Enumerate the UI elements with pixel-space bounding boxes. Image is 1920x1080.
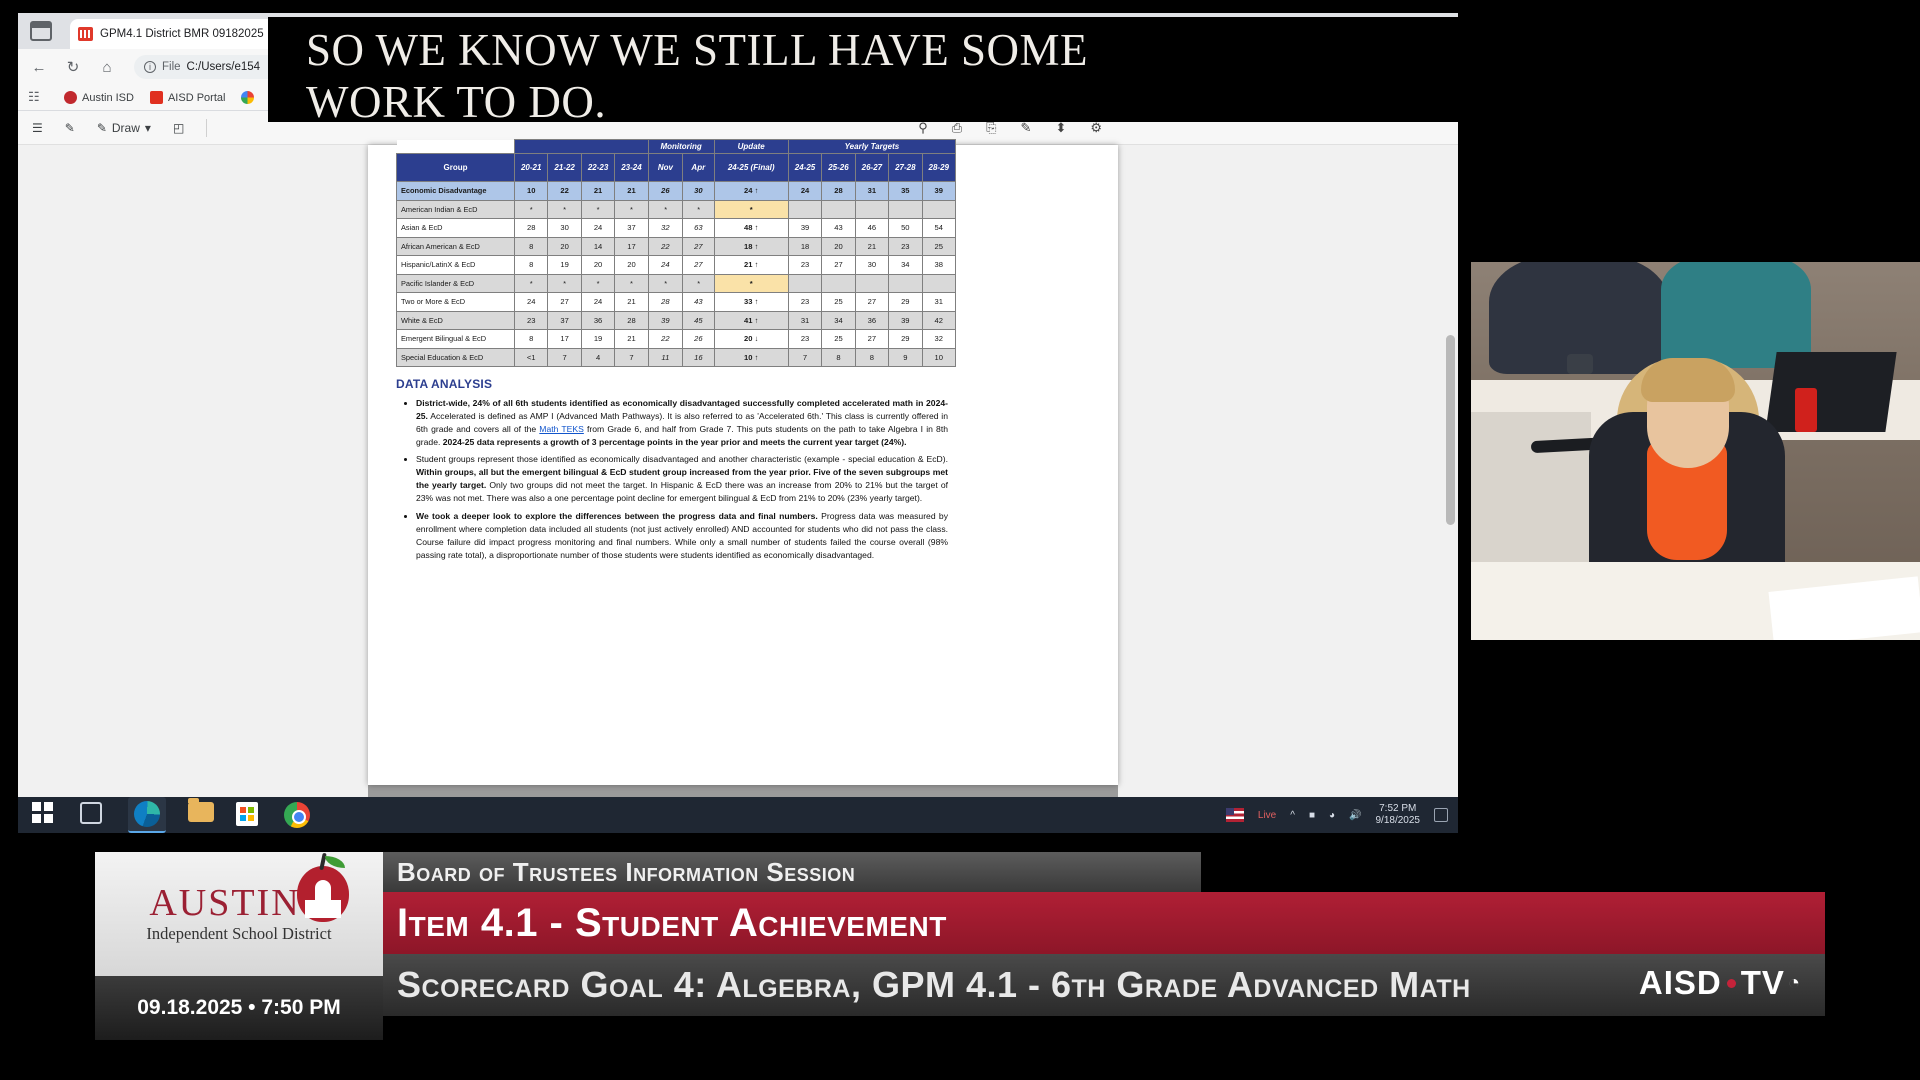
chrome-icon [284,802,310,828]
chrome-button[interactable] [284,802,310,828]
table-cell: 34 [822,311,855,330]
draw-icon: ✎ [97,121,107,135]
edge-icon [134,801,160,827]
table-cell: 9 [889,348,922,367]
col-final: 24-25 (Final) [714,154,788,182]
table-row: White & EcD23373628394541 ↑3134363942 [397,311,956,330]
table-cell [788,274,821,293]
file-explorer-button[interactable] [188,802,214,828]
cell-final-update: 18 ↑ [714,237,788,256]
table-cell: 24 [788,182,821,201]
toolbar-divider [206,119,207,137]
table-cell: 31 [922,293,955,312]
table-cell: 23 [515,311,548,330]
scorecard-subtitle: Scorecard Goal 4: Algebra, GPM 4.1 - 6th… [383,954,1825,1016]
tab-search-icon[interactable] [30,21,52,41]
table-cell: * [581,274,614,293]
table-cell: 25 [822,330,855,349]
table-row: American Indian & EcD******* [397,200,956,219]
table-cell: 27 [855,330,888,349]
table-cell: 8 [515,330,548,349]
pdf-favicon-icon [78,27,93,41]
table-cell: 7 [615,348,648,367]
bookmark-manager-icon[interactable]: ☷ [28,89,48,107]
band-monitoring: Monitoring [648,140,714,154]
bookmark-google-1[interactable] [241,91,259,104]
table-cell: 31 [788,311,821,330]
table-cell: 23 [889,237,922,256]
volume-icon[interactable]: 🔊 [1349,810,1361,821]
row-group-label: Hispanic/LatinX & EcD [397,256,515,275]
table-cell: 29 [889,330,922,349]
col-apr: Apr [683,154,715,182]
table-cell: * [515,200,548,219]
cell-final-update: 41 ↑ [714,311,788,330]
table-cell: 31 [855,182,888,201]
table-cell: 19 [581,330,614,349]
cell-final-update: 24 ↑ [714,182,788,201]
table-cell: 43 [683,293,715,312]
table-cell [822,274,855,293]
capitol-base [305,900,341,918]
table-cell: 11 [648,348,682,367]
pdf-page: ⚲ ⎙ ⎘ ✎ ⬍ ⚙ Monitoring Up [368,145,1118,785]
reload-icon[interactable]: ↻ [62,56,84,78]
scorecard-table: Monitoring Update Yearly Targets Group 2… [396,139,956,367]
pdf-draw-tool[interactable]: ✎ Draw ▾ [97,121,151,135]
table-cell: 14 [581,237,614,256]
network-name: AISD [1639,964,1722,1002]
table-cell: 29 [889,293,922,312]
math-teks-link[interactable]: Math TEKS [539,424,584,434]
table-cell: 10 [515,182,548,201]
table-cell: 20 [822,237,855,256]
table-cell: 22 [648,237,682,256]
austin-isd-icon [64,91,77,104]
caption-line-2: WORK TO DO. [306,77,1498,129]
row-group-label: White & EcD [397,311,515,330]
notifications-icon[interactable] [1434,808,1448,822]
table-cell: * [515,274,548,293]
table-cell: 36 [855,311,888,330]
bookmark-label: Austin ISD [82,92,134,104]
table-cell: 27 [683,256,715,275]
table-cell: 63 [683,219,715,238]
back-icon[interactable]: ← [28,56,50,78]
chevron-down-icon[interactable]: ▾ [145,121,151,135]
row-group-label: Two or More & EcD [397,293,515,312]
table-row: Pacific Islander & EcD******* [397,274,956,293]
table-cell: 28 [615,311,648,330]
table-cell [889,274,922,293]
pdf-scrollbar[interactable] [1446,335,1455,525]
district-logo: AUSTIN Independent School District [95,852,383,976]
table-cell: 17 [615,237,648,256]
microsoft-store-button[interactable] [236,802,262,828]
table-cell: 24 [581,219,614,238]
document-content: Monitoring Update Yearly Targets Group 2… [378,139,1108,566]
table-cell: 25 [822,293,855,312]
table-cell: 4 [581,348,614,367]
table-cell: 10 [922,348,955,367]
table-row: Economic Disadvantage10222121263024 ↑242… [397,182,956,201]
table-cell: 39 [648,311,682,330]
table-cell: * [548,200,581,219]
col-group: Group [397,154,515,182]
table-cell: 34 [889,256,922,275]
table-cell: 8 [855,348,888,367]
col-t2728: 27-28 [889,154,922,182]
folder-icon [188,802,214,822]
task-view-button[interactable] [80,802,106,828]
table-cell: 23 [788,256,821,275]
table-cell: 36 [581,311,614,330]
table-cell: 26 [683,330,715,349]
screen: GPM4.1 District BMR 09182025 ← ↻ ⌂ i Fil… [0,0,1920,1080]
table-cell: 17 [548,330,581,349]
cell-final-update: * [714,200,788,219]
table-row: Special Education & EcD<1747111610 ↑7889… [397,348,956,367]
wristwatch [1567,354,1593,374]
col-2021: 20-21 [515,154,548,182]
data-analysis-list: District-wide, 24% of all 6th students i… [400,397,948,562]
table-cell: 21 [615,293,648,312]
pdf-erase-tool[interactable]: ◰ [173,121,184,135]
col-t2627: 26-27 [855,154,888,182]
table-cell: 7 [788,348,821,367]
col-2324: 23-24 [615,154,648,182]
table-cell: 24 [515,293,548,312]
table-row: African American & EcD8201417222718 ↑182… [397,237,956,256]
address-url: C:/Users/e154 [187,61,261,73]
item-title: Item 4.1 - Student Achievement [383,892,1825,954]
pdf-sidebar-toggle[interactable]: ☰ [32,121,43,135]
clock[interactable]: 7:52 PM 9/18/2025 [1376,803,1421,828]
apple-capitol-icon [297,866,349,922]
home-icon[interactable]: ⌂ [96,56,118,78]
table-cell: 20 [615,256,648,275]
table-cell: 39 [889,311,922,330]
soda-can [1795,388,1817,432]
clock-date: 9/18/2025 [1376,815,1421,828]
session-title: Board of Trustees Information Session [383,852,1201,892]
table-cell [855,274,888,293]
table-cell: 26 [648,182,682,201]
table-cell: 28 [822,182,855,201]
site-info-icon[interactable]: i [144,61,156,73]
table-cell: 39 [788,219,821,238]
caption-overlay: SO WE KNOW WE STILL HAVE SOME WORK TO DO… [268,17,1516,122]
table-cell: 37 [615,219,648,238]
row-group-label: Emergent Bilingual & EcD [397,330,515,349]
bookmark-aisd-portal[interactable]: AISD Portal [150,91,225,104]
table-cell: 21 [615,182,648,201]
table-cell: 21 [615,330,648,349]
cell-final-update: 48 ↑ [714,219,788,238]
speaker-video [1471,262,1920,640]
network-dot [1727,979,1736,988]
table-cell: 38 [922,256,955,275]
col-2223: 22-23 [581,154,614,182]
table-header-row: Group 20-21 21-22 22-23 23-24 Nov Apr 24… [397,154,956,182]
table-cell: * [683,200,715,219]
laptop [1765,352,1896,432]
network-logo: AISD TV ◔ [1639,964,1801,1002]
address-scheme: File [162,61,181,73]
table-cell: * [581,200,614,219]
table-cell [855,200,888,219]
table-cell: 22 [548,182,581,201]
table-cell: 27 [548,293,581,312]
battery-icon[interactable]: ■ [1309,810,1315,821]
show-hidden-icons-icon[interactable]: ^ [1290,810,1295,821]
broadcast-datetime: 09.18.2025 • 7:50 PM [95,976,383,1040]
bookmark-label: AISD Portal [168,92,225,104]
chair [1471,412,1591,572]
table-cell [788,200,821,219]
col-2122: 21-22 [548,154,581,182]
table-cell: 32 [922,330,955,349]
row-group-label: Asian & EcD [397,219,515,238]
table-cell: * [648,200,682,219]
cell-final-update: 33 ↑ [714,293,788,312]
table-cell: 28 [648,293,682,312]
cell-final-update: * [714,274,788,293]
speaker-hair-top [1641,358,1735,402]
table-cell [822,200,855,219]
row-group-label: Special Education & EcD [397,348,515,367]
table-cell: 30 [855,256,888,275]
table-cell: 22 [648,330,682,349]
table-cell: 28 [515,219,548,238]
cell-final-update: 20 ↓ [714,330,788,349]
table-row: Hispanic/LatinX & EcD8192020242721 ↑2327… [397,256,956,275]
table-cell: 43 [822,219,855,238]
broadcast-wave-icon: ◔ [1788,972,1801,995]
table-row: Asian & EcD28302437326348 ↑3943465054 [397,219,956,238]
logo-subtitle: Independent School District [146,924,331,944]
logo-name: AUSTIN [149,884,300,922]
table-cell: 24 [648,256,682,275]
pdf-viewer: ⚲ ⎙ ⎘ ✎ ⬍ ⚙ Monitoring Up [18,145,1458,823]
edge-button[interactable] [128,797,166,833]
table-body: Economic Disadvantage10222121263024 ↑242… [397,182,956,367]
table-cell: 20 [581,256,614,275]
table-cell: 16 [683,348,715,367]
windows-icon [32,802,54,824]
table-cell: 7 [548,348,581,367]
analysis-bullet: District-wide, 24% of all 6th students i… [416,397,948,449]
pdf-highlight-tool[interactable]: ✎ [65,121,75,135]
table-cell: 20 [548,237,581,256]
table-cell: 21 [855,237,888,256]
row-group-label: American Indian & EcD [397,200,515,219]
us-flag-icon[interactable] [1226,808,1244,822]
table-cell [922,274,955,293]
table-cell: <1 [515,348,548,367]
band-yearly-targets: Yearly Targets [788,140,955,154]
google-icon [241,91,254,104]
table-cell: 25 [922,237,955,256]
table-cell: 8 [515,256,548,275]
table-cell: 37 [548,311,581,330]
analysis-bullet: Student groups represent those identifie… [416,453,948,505]
table-cell: 42 [922,311,955,330]
aisd-portal-icon [150,91,163,104]
table-cell: 45 [683,311,715,330]
table-cell [922,200,955,219]
col-nov: Nov [648,154,682,182]
row-group-label: Pacific Islander & EcD [397,274,515,293]
clock-time: 7:52 PM [1376,803,1421,816]
col-t2829: 28-29 [922,154,955,182]
table-row: Two or More & EcD24272421284333 ↑2325272… [397,293,956,312]
table-cell: 24 [581,293,614,312]
cell-final-update: 21 ↑ [714,256,788,275]
table-cell: 23 [788,330,821,349]
screen-share-region: GPM4.1 District BMR 09182025 ← ↻ ⌂ i Fil… [18,13,1458,823]
table-cell: 18 [788,237,821,256]
table-cell: * [683,274,715,293]
start-button[interactable] [32,802,58,828]
pdf-draw-label: Draw [112,121,140,135]
table-band-header-row: Monitoring Update Yearly Targets [397,140,956,154]
table-cell: 30 [548,219,581,238]
table-cell: 27 [855,293,888,312]
col-t2526: 25-26 [822,154,855,182]
network-suffix: TV [1741,964,1785,1002]
row-group-label: Economic Disadvantage [397,182,515,201]
pdf-left-margin [18,145,368,823]
windows-taskbar: Live ^ ■ ◕ 🔊 7:52 PM 9/18/2025 [18,797,1458,833]
table-cell: 46 [855,219,888,238]
table-cell: 19 [548,256,581,275]
caption-line-1: SO WE KNOW WE STILL HAVE SOME [306,25,1498,77]
table-cell: * [648,274,682,293]
cell-final-update: 10 ↑ [714,348,788,367]
band-blank [397,140,515,154]
wifi-icon[interactable]: ◕ [1329,810,1335,821]
band-update: Update [714,140,788,154]
table-row: Emergent Bilingual & EcD8171921222620 ↓2… [397,330,956,349]
col-t2425: 24-25 [788,154,821,182]
table-cell: 30 [683,182,715,201]
table-cell: 32 [648,219,682,238]
table-cell: 23 [788,293,821,312]
pdf-right-margin [1118,145,1458,823]
table-cell: 50 [889,219,922,238]
system-tray: Live ^ ■ ◕ 🔊 7:52 PM 9/18/2025 [1226,803,1458,828]
analysis-bullet: We took a deeper look to explore the dif… [416,510,948,562]
data-analysis-heading: DATA ANALYSIS [396,377,1108,391]
store-icon [236,802,258,826]
table-cell: 8 [822,348,855,367]
table-cell: * [615,200,648,219]
table-cell: * [548,274,581,293]
table-cell: 27 [683,237,715,256]
table-cell: 8 [515,237,548,256]
band-progress [515,140,649,154]
task-view-icon [80,802,102,824]
row-group-label: African American & EcD [397,237,515,256]
bookmark-austin-isd[interactable]: Austin ISD [64,91,134,104]
table-cell: 21 [581,182,614,201]
table-cell: 35 [889,182,922,201]
tab-title: GPM4.1 District BMR 09182025 [100,28,264,40]
table-cell: 54 [922,219,955,238]
table-cell [889,200,922,219]
lower-third-banner: AUSTIN Independent School District 09.18… [95,852,1825,1042]
table-cell: 27 [822,256,855,275]
live-indicator: Live [1258,810,1276,821]
table-cell: 39 [922,182,955,201]
table-cell: * [615,274,648,293]
